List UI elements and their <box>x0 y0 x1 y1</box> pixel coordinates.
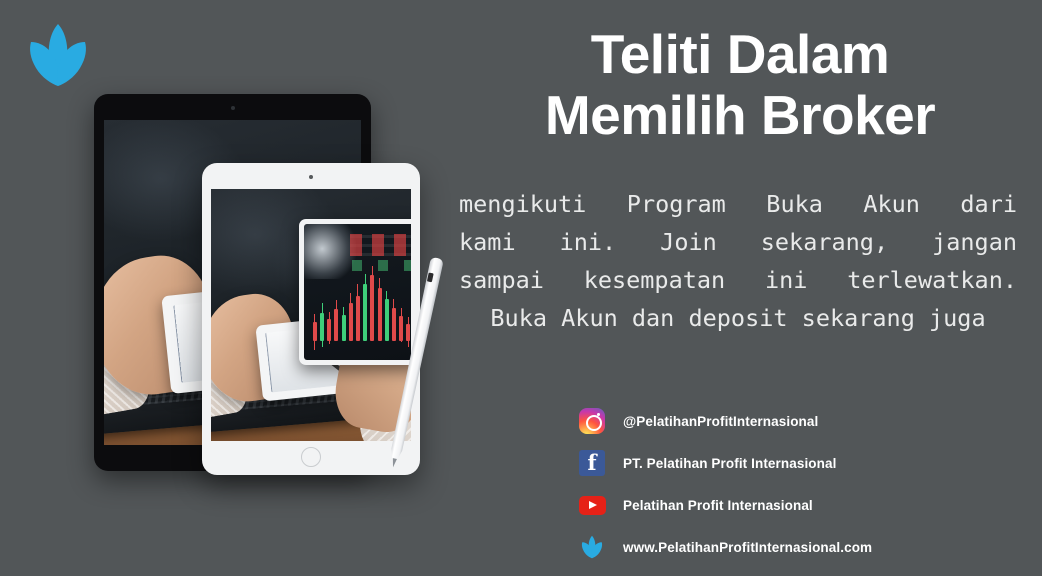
youtube-icon <box>577 490 607 520</box>
camera-dot <box>231 106 235 110</box>
headline-line-1: Teliti Dalam <box>452 24 1028 85</box>
home-button[interactable] <box>301 447 321 467</box>
website-url: www.PelatihanProfitInternasional.com <box>623 540 872 555</box>
facebook-page: PT. Pelatihan Profit Internasional <box>623 456 836 471</box>
page-title: Teliti Dalam Memilih Broker <box>452 24 1028 145</box>
promotional-poster: Teliti Dalam Memilih Broker mengikuti Pr… <box>0 0 1042 576</box>
tablet-device-inner <box>299 219 411 365</box>
body-line-3: sampai kesempatan ini terlewatkan. <box>459 261 1017 299</box>
body-line-1: mengikuti Program Buka Akun dari <box>459 185 1017 223</box>
lotus-icon <box>577 532 607 562</box>
candlestick-chart <box>304 224 411 360</box>
social-row-facebook[interactable]: f PT. Pelatihan Profit Internasional <box>577 442 997 484</box>
tablet-device-white <box>202 163 420 475</box>
tablet-screen-white <box>211 189 411 441</box>
tablet-screen-inner <box>304 224 411 360</box>
body-line-2: kami ini. Join sekarang, jangan <box>459 223 1017 261</box>
facebook-icon: f <box>577 448 607 478</box>
camera-dot <box>309 175 313 179</box>
body-copy: mengikuti Program Buka Akun dari kami in… <box>459 185 1017 337</box>
ticker-row <box>350 234 411 256</box>
body-line-4: Buka Akun dan deposit sekarang juga <box>459 299 1017 337</box>
social-row-youtube[interactable]: Pelatihan Profit Internasional <box>577 484 997 526</box>
candle-series <box>311 268 411 342</box>
social-row-website[interactable]: www.PelatihanProfitInternasional.com <box>577 526 997 568</box>
youtube-channel: Pelatihan Profit Internasional <box>623 498 813 513</box>
social-links: @PelatihanProfitInternasional f PT. Pela… <box>577 400 997 568</box>
instagram-handle: @PelatihanProfitInternasional <box>623 414 818 429</box>
lotus-icon <box>22 22 94 88</box>
instagram-icon <box>577 406 607 436</box>
headline-line-2: Memilih Broker <box>452 85 1028 146</box>
social-row-instagram[interactable]: @PelatihanProfitInternasional <box>577 400 997 442</box>
